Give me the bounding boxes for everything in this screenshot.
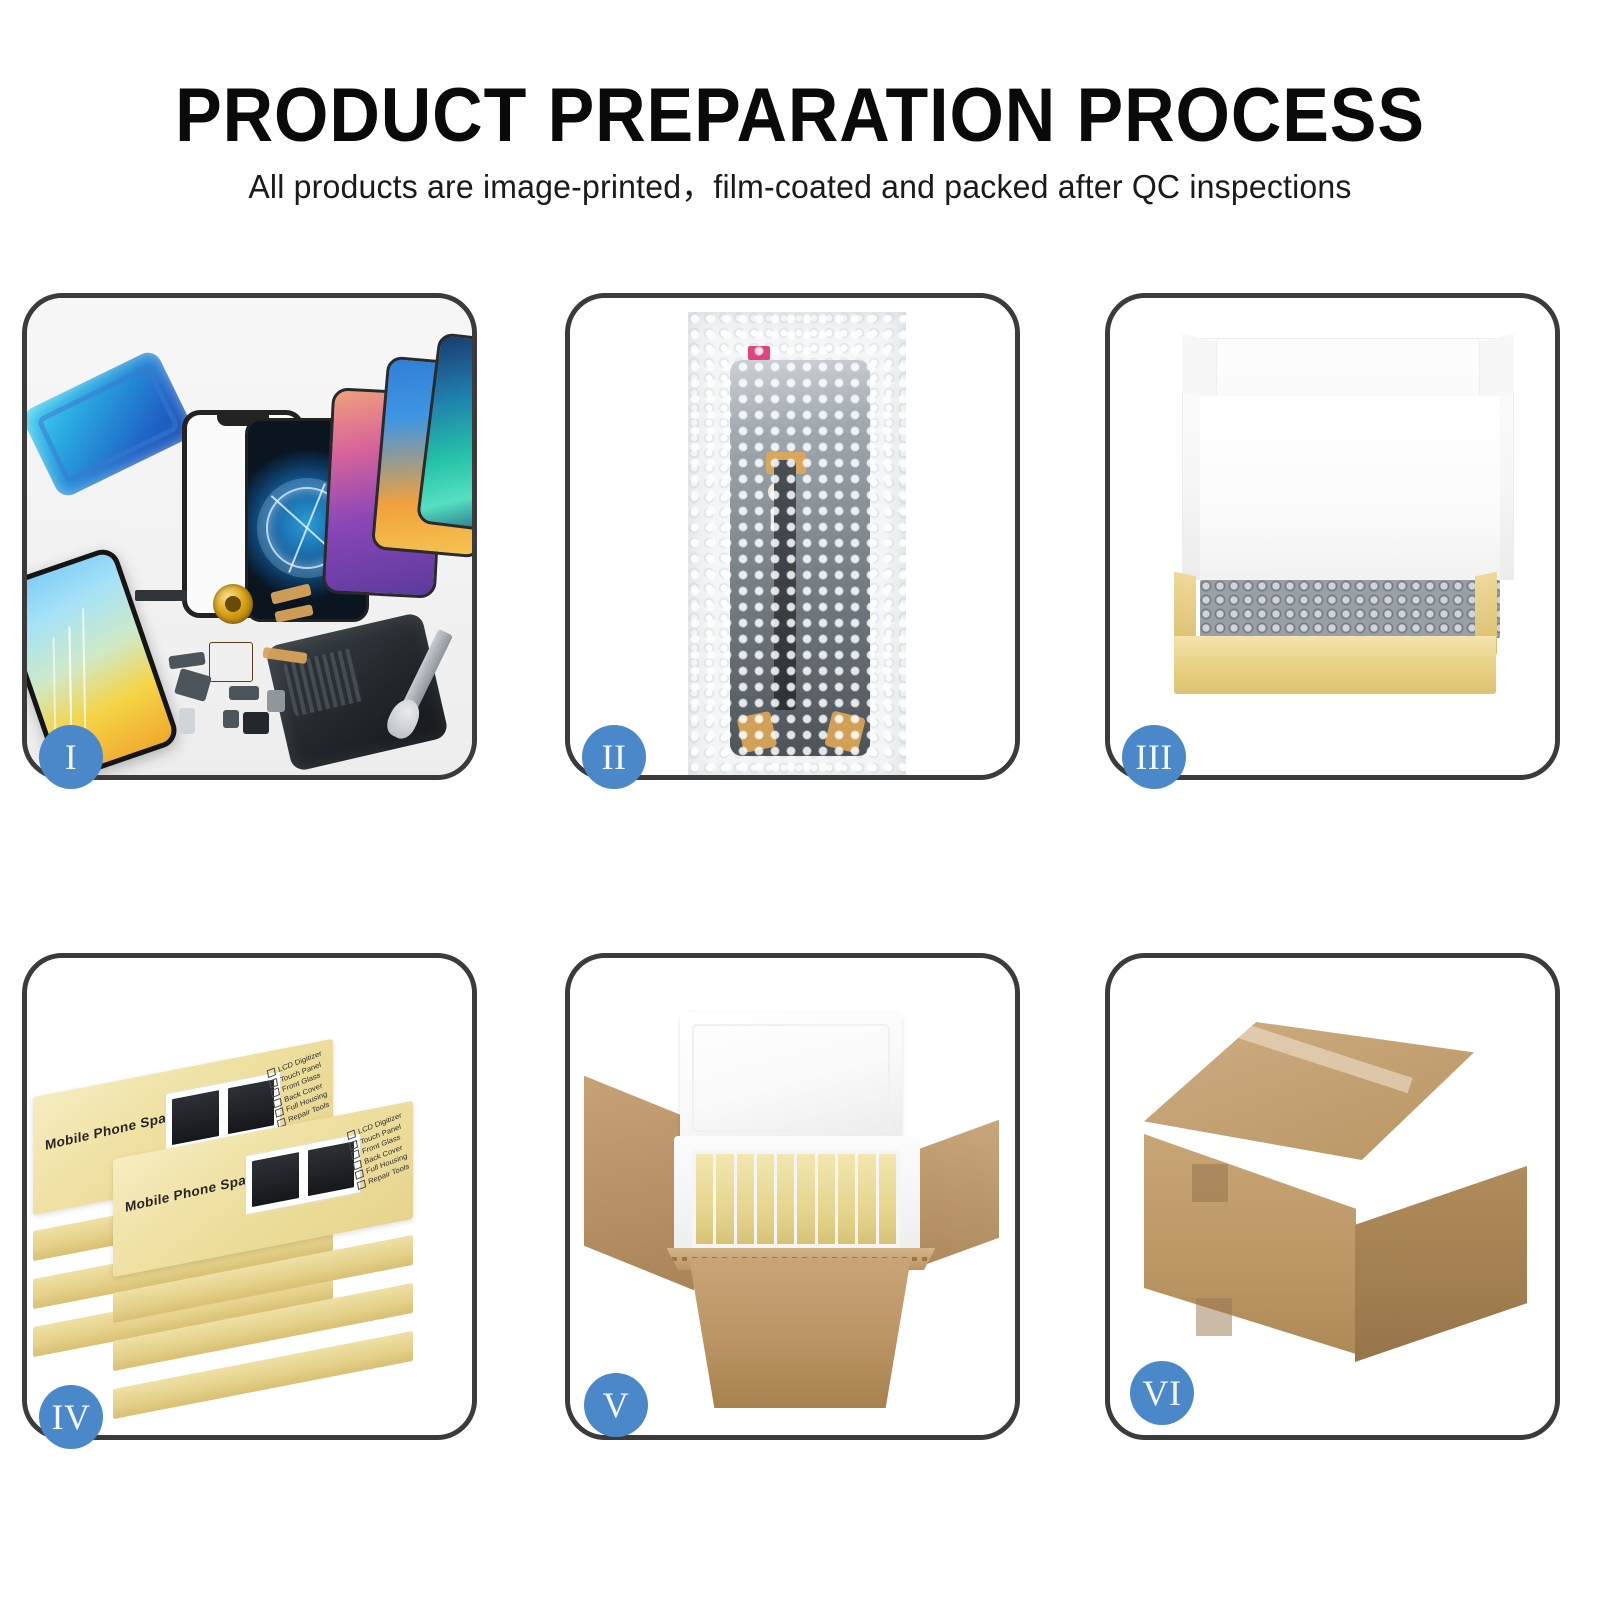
step-panel-4: Mobile Phone Spare Parts LCD Digitizer T…	[22, 953, 477, 1440]
process-step-grid: I II	[0, 0, 1600, 1600]
small-component-3	[229, 686, 259, 700]
step-badge-5: V	[584, 1373, 648, 1437]
lcd-screen-assembly	[730, 360, 870, 756]
bubble-wrap-bag	[688, 312, 906, 775]
box-checklist: LCD Digitizer Touch Panel Front Glass Ba…	[266, 1049, 332, 1130]
step-panel-5: V	[565, 953, 1020, 1440]
step-badge-6: VI	[1130, 1361, 1194, 1425]
small-component-2	[174, 668, 212, 702]
small-component-1	[168, 652, 205, 670]
carton-body	[674, 1258, 926, 1408]
logic-board-chip	[209, 642, 253, 682]
stacked-retail-boxes-image: Mobile Phone Spare Parts LCD Digitizer T…	[27, 958, 472, 1435]
packed-retail-boxes	[692, 1150, 900, 1248]
step-panel-1: I	[22, 293, 477, 780]
carton-front-face	[1144, 1134, 1356, 1354]
bubble-wrapped-lcd-image	[570, 298, 1015, 775]
bubble-wrap-filler	[1200, 580, 1500, 638]
carton-with-foam-cooler-image	[570, 958, 1015, 1435]
step-badge-4: IV	[39, 1385, 103, 1449]
sim-tray-part	[179, 708, 195, 734]
product-parts-collage-image	[27, 298, 472, 775]
step-panel-3: III	[1105, 293, 1560, 780]
sealed-shipping-carton-image	[1110, 958, 1555, 1435]
box-product-thumbnails	[245, 1133, 361, 1216]
carton-tape-lower	[1196, 1298, 1232, 1336]
pink-label-tab	[748, 346, 770, 360]
step-badge-1: I	[39, 725, 103, 789]
earpiece-speaker-part	[135, 590, 187, 601]
step-panel-2: II	[565, 293, 1020, 780]
carton-tape-upper	[1192, 1164, 1228, 1202]
vibration-motor-part	[267, 690, 285, 712]
box-checklist: LCD Digitizer Touch Panel Front Glass Ba…	[346, 1111, 412, 1192]
styrofoam-lid	[680, 1012, 902, 1144]
adhesive-frame-part	[27, 348, 196, 500]
step-panel-6: VI	[1105, 953, 1560, 1440]
white-foam-sheet	[1200, 396, 1500, 586]
carton-top-face	[1144, 1022, 1474, 1160]
step-badge-2: II	[582, 725, 646, 789]
carton-side-face	[1355, 1166, 1527, 1362]
small-component-4	[223, 710, 239, 728]
step-badge-3: III	[1122, 725, 1186, 789]
yellow-box-front	[1174, 636, 1496, 694]
wireless-charging-coil	[213, 584, 253, 624]
camera-module-part	[243, 712, 269, 734]
open-mailer-box-image	[1110, 298, 1555, 775]
